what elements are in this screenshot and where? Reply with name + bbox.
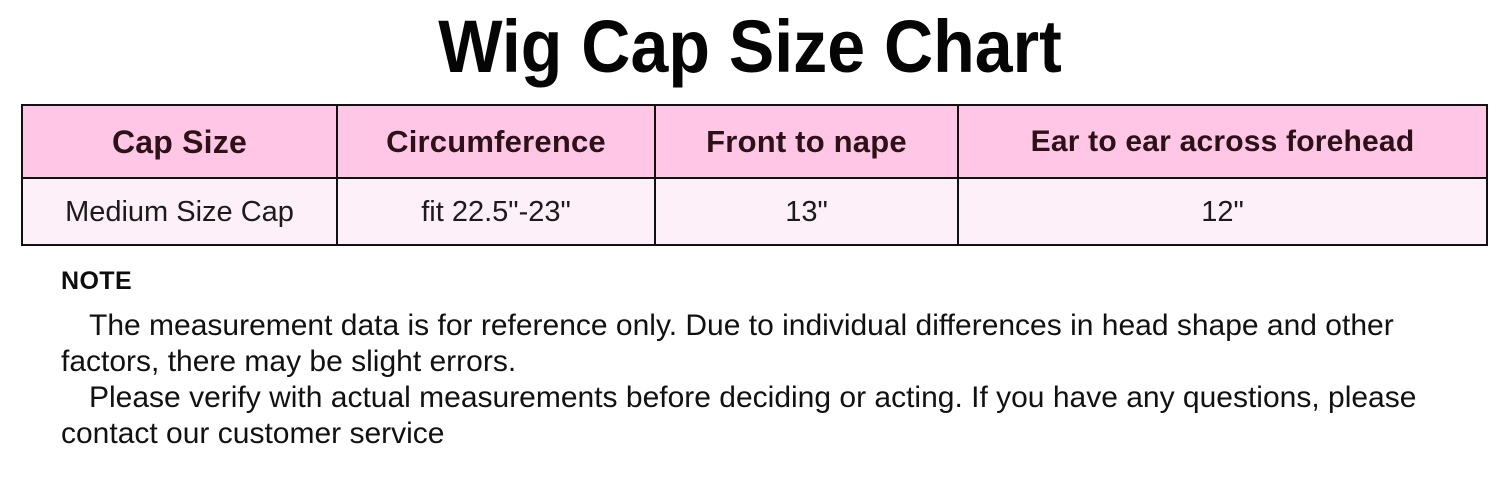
table-header-row: Cap Size Circumference Front to nape Ear… [22, 105, 1487, 178]
table-row: Medium Size Cap fit 22.5"-23" 13" 12" [22, 178, 1487, 245]
note-paragraph-2: Please verify with actual measurements b… [61, 380, 1461, 452]
column-header-front-to-nape: Front to nape [655, 105, 958, 178]
note-paragraph-1: The measurement data is for reference on… [61, 308, 1461, 380]
cell-circumference: fit 22.5"-23" [337, 178, 655, 245]
cell-cap-size: Medium Size Cap [22, 178, 337, 245]
wig-cap-size-table: Cap Size Circumference Front to nape Ear… [21, 104, 1488, 246]
cell-front-to-nape: 13" [655, 178, 958, 245]
column-header-ear-to-ear: Ear to ear across forehead [958, 105, 1487, 178]
note-section: NOTE The measurement data is for referen… [61, 266, 1461, 452]
cell-ear-to-ear: 12" [958, 178, 1487, 245]
page-title: Wig Cap Size Chart [60, 4, 1440, 90]
column-header-circumference: Circumference [337, 105, 655, 178]
note-label: NOTE [61, 266, 1461, 296]
column-header-cap-size: Cap Size [22, 105, 337, 178]
